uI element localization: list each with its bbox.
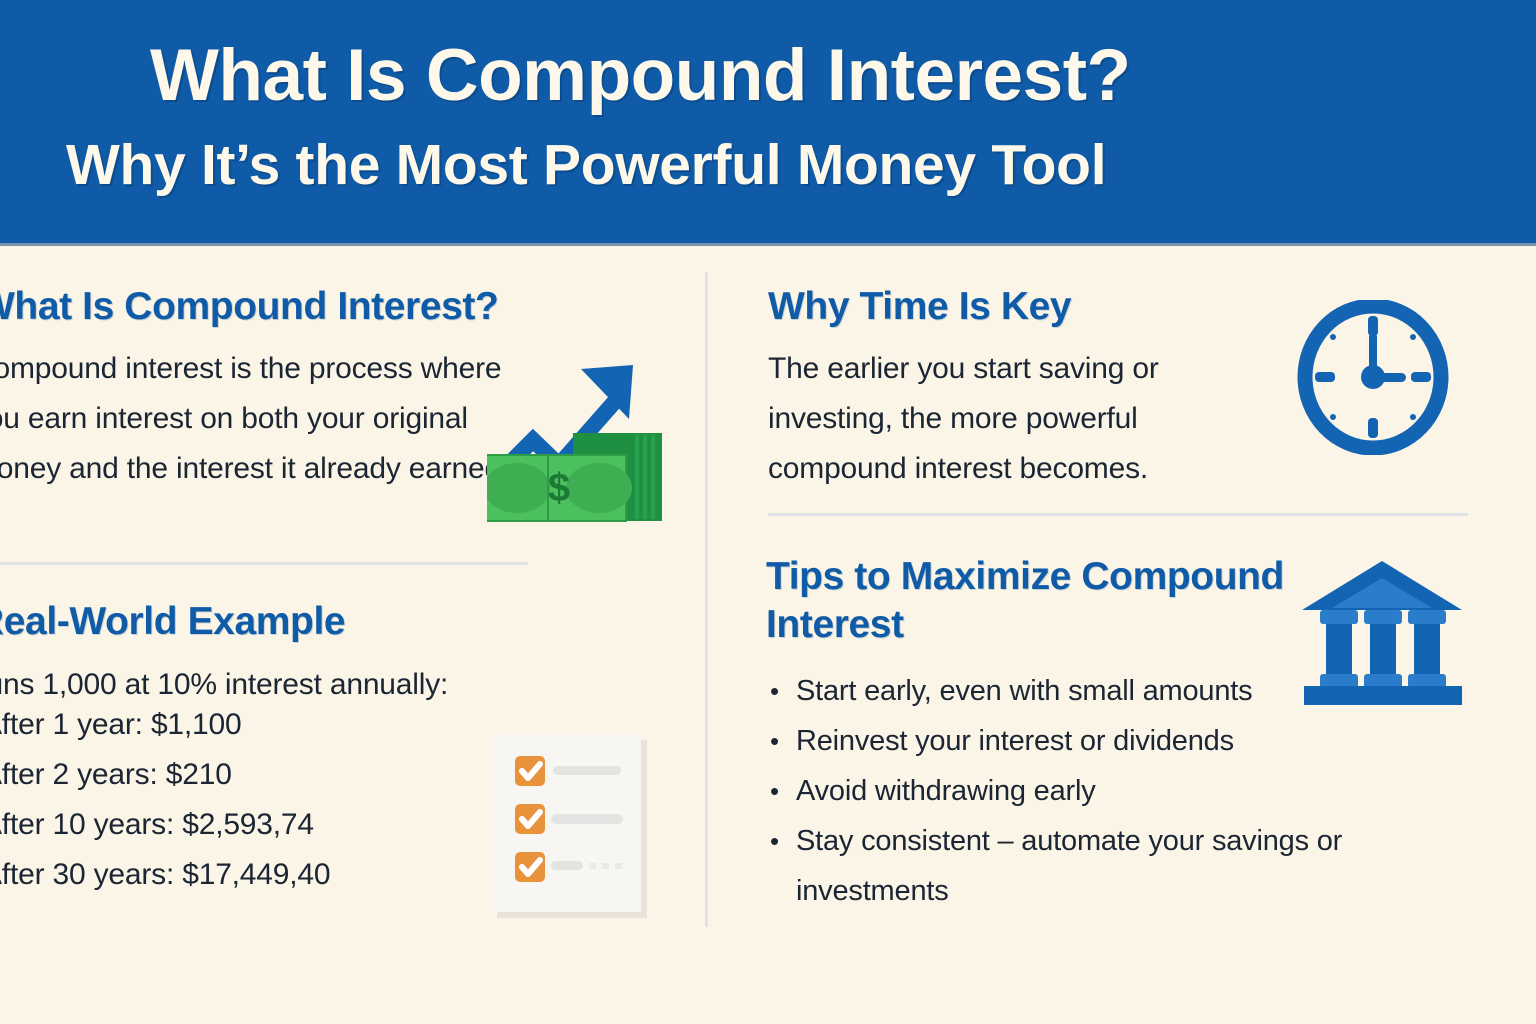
page-title: What Is Compound Interest? — [150, 34, 1131, 117]
list-item: After 1 year: $1,100 — [0, 700, 512, 750]
list-item: Stay consistent – automate your savings … — [768, 816, 1388, 916]
bank-icon — [1300, 558, 1465, 710]
infographic-poster: What Is Compound Interest? Why It’s the … — [0, 0, 1536, 1024]
clock-icon — [1297, 300, 1449, 455]
checklist-icon — [489, 730, 654, 920]
tips-list: Start early, even with small amounts Rei… — [768, 666, 1388, 916]
list-item: Reinvest your interest or dividends — [768, 716, 1388, 766]
section-heading-why-time-is-key: Why Time Is Key — [768, 285, 1071, 329]
right-section-divider — [768, 513, 1468, 516]
header-bottom-rule — [0, 243, 1536, 246]
section-heading-tips-to-maximize: Tips to Maximize Compound Interest — [766, 553, 1286, 649]
section-body-what-is-compound-interest: Compound interest is the process where y… — [0, 344, 552, 494]
column-divider — [705, 272, 708, 927]
list-item: After 2 years: $210 — [0, 750, 512, 800]
left-section-divider — [0, 562, 528, 565]
example-results-list: After 1 year: $1,100 After 2 years: $210… — [0, 700, 512, 900]
page-subtitle: Why It’s the Most Powerful Money Tool — [66, 132, 1106, 198]
list-item: After 30 years: $17,449,40 — [0, 850, 512, 900]
money-growth-icon: $ — [487, 345, 662, 525]
section-heading-what-is-compound-interest: What Is Compound Interest? — [0, 285, 498, 329]
list-item: Start early, even with small amounts — [768, 666, 1388, 716]
list-item: Avoid withdrawing early — [768, 766, 1388, 816]
list-item: After 10 years: $2,593,74 — [0, 800, 512, 850]
section-body-why-time-is-key: The earlier you start saving or investin… — [768, 344, 1248, 494]
svg-text:$: $ — [548, 466, 570, 510]
section-heading-real-world-example: Real-World Example — [0, 600, 345, 644]
